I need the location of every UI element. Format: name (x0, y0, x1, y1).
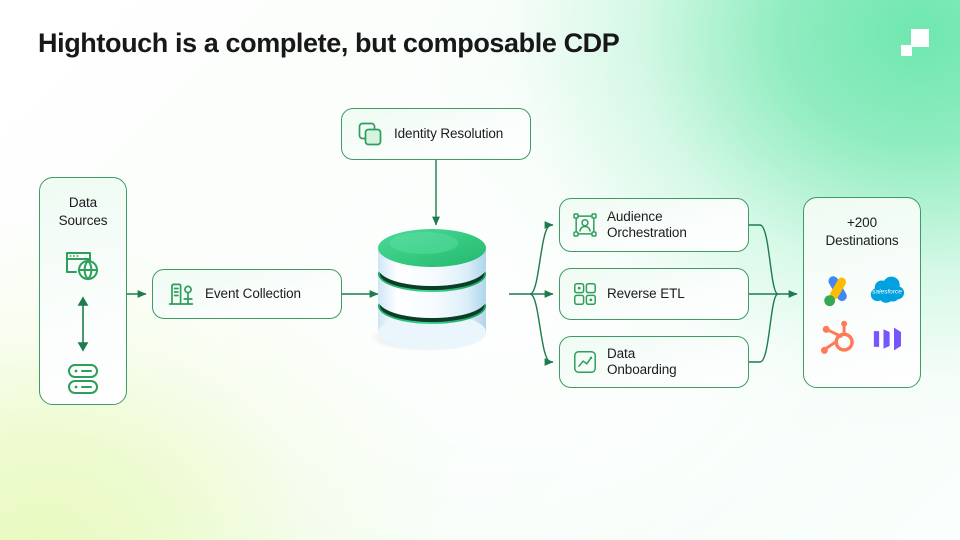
server-stack-icon (63, 362, 103, 396)
overlapping-squares-icon (356, 120, 384, 148)
bidirectional-arrow-icon (76, 296, 90, 352)
destinations-count: +200 (847, 215, 877, 230)
node-audience-orchestration[interactable]: Audience Orchestration (559, 198, 749, 252)
connector-audience-merge (749, 225, 778, 294)
node-reverse-etl[interactable]: Reverse ETL (559, 268, 749, 320)
connector-warehouse-dataonboarding (530, 294, 553, 362)
browser-globe-icon (63, 248, 103, 286)
blocks-grid-icon (572, 281, 598, 307)
destination-logo-grid: salesforce (816, 270, 908, 360)
destinations-word: Destinations (825, 233, 898, 248)
event-collection-label: Event Collection (205, 286, 301, 302)
svg-text:salesforce: salesforce (872, 289, 902, 296)
reverse-etl-label: Reverse ETL (607, 286, 685, 302)
destinations-title: +200 Destinations (825, 214, 898, 250)
node-data-sources[interactable]: Data Sources (39, 177, 127, 405)
connector-dataonboarding-merge (749, 294, 778, 362)
data-sources-title: Data Sources (59, 194, 108, 230)
connector-warehouse-audience (530, 225, 553, 294)
database-cylinder-icon (352, 212, 512, 362)
identity-resolution-label: Identity Resolution (394, 126, 503, 142)
line-chart-icon (572, 349, 598, 375)
node-identity-resolution[interactable]: Identity Resolution (341, 108, 531, 160)
page-title: Hightouch is a complete, but composable … (38, 28, 619, 59)
google-ads-logo-icon (817, 270, 859, 312)
hubspot-logo-icon (817, 318, 859, 360)
hightouch-logo-mark-icon (901, 29, 935, 63)
data-onboarding-label: Data Onboarding (607, 346, 677, 378)
data-sources-icon-stack (40, 248, 126, 396)
node-destinations[interactable]: +200 Destinations (803, 197, 921, 388)
salesforce-logo-icon: salesforce (866, 270, 908, 312)
mixpanel-logo-icon (866, 318, 908, 360)
audience-orchestration-label: Audience Orchestration (607, 209, 687, 241)
node-data-onboarding[interactable]: Data Onboarding (559, 336, 749, 388)
building-antenna-icon (167, 280, 195, 308)
logo-square-small (901, 45, 912, 56)
person-in-frame-icon (572, 212, 598, 238)
slide-canvas: Hightouch is a complete, but composable … (0, 0, 960, 540)
node-event-collection[interactable]: Event Collection (152, 269, 342, 319)
logo-square-large (911, 29, 929, 47)
